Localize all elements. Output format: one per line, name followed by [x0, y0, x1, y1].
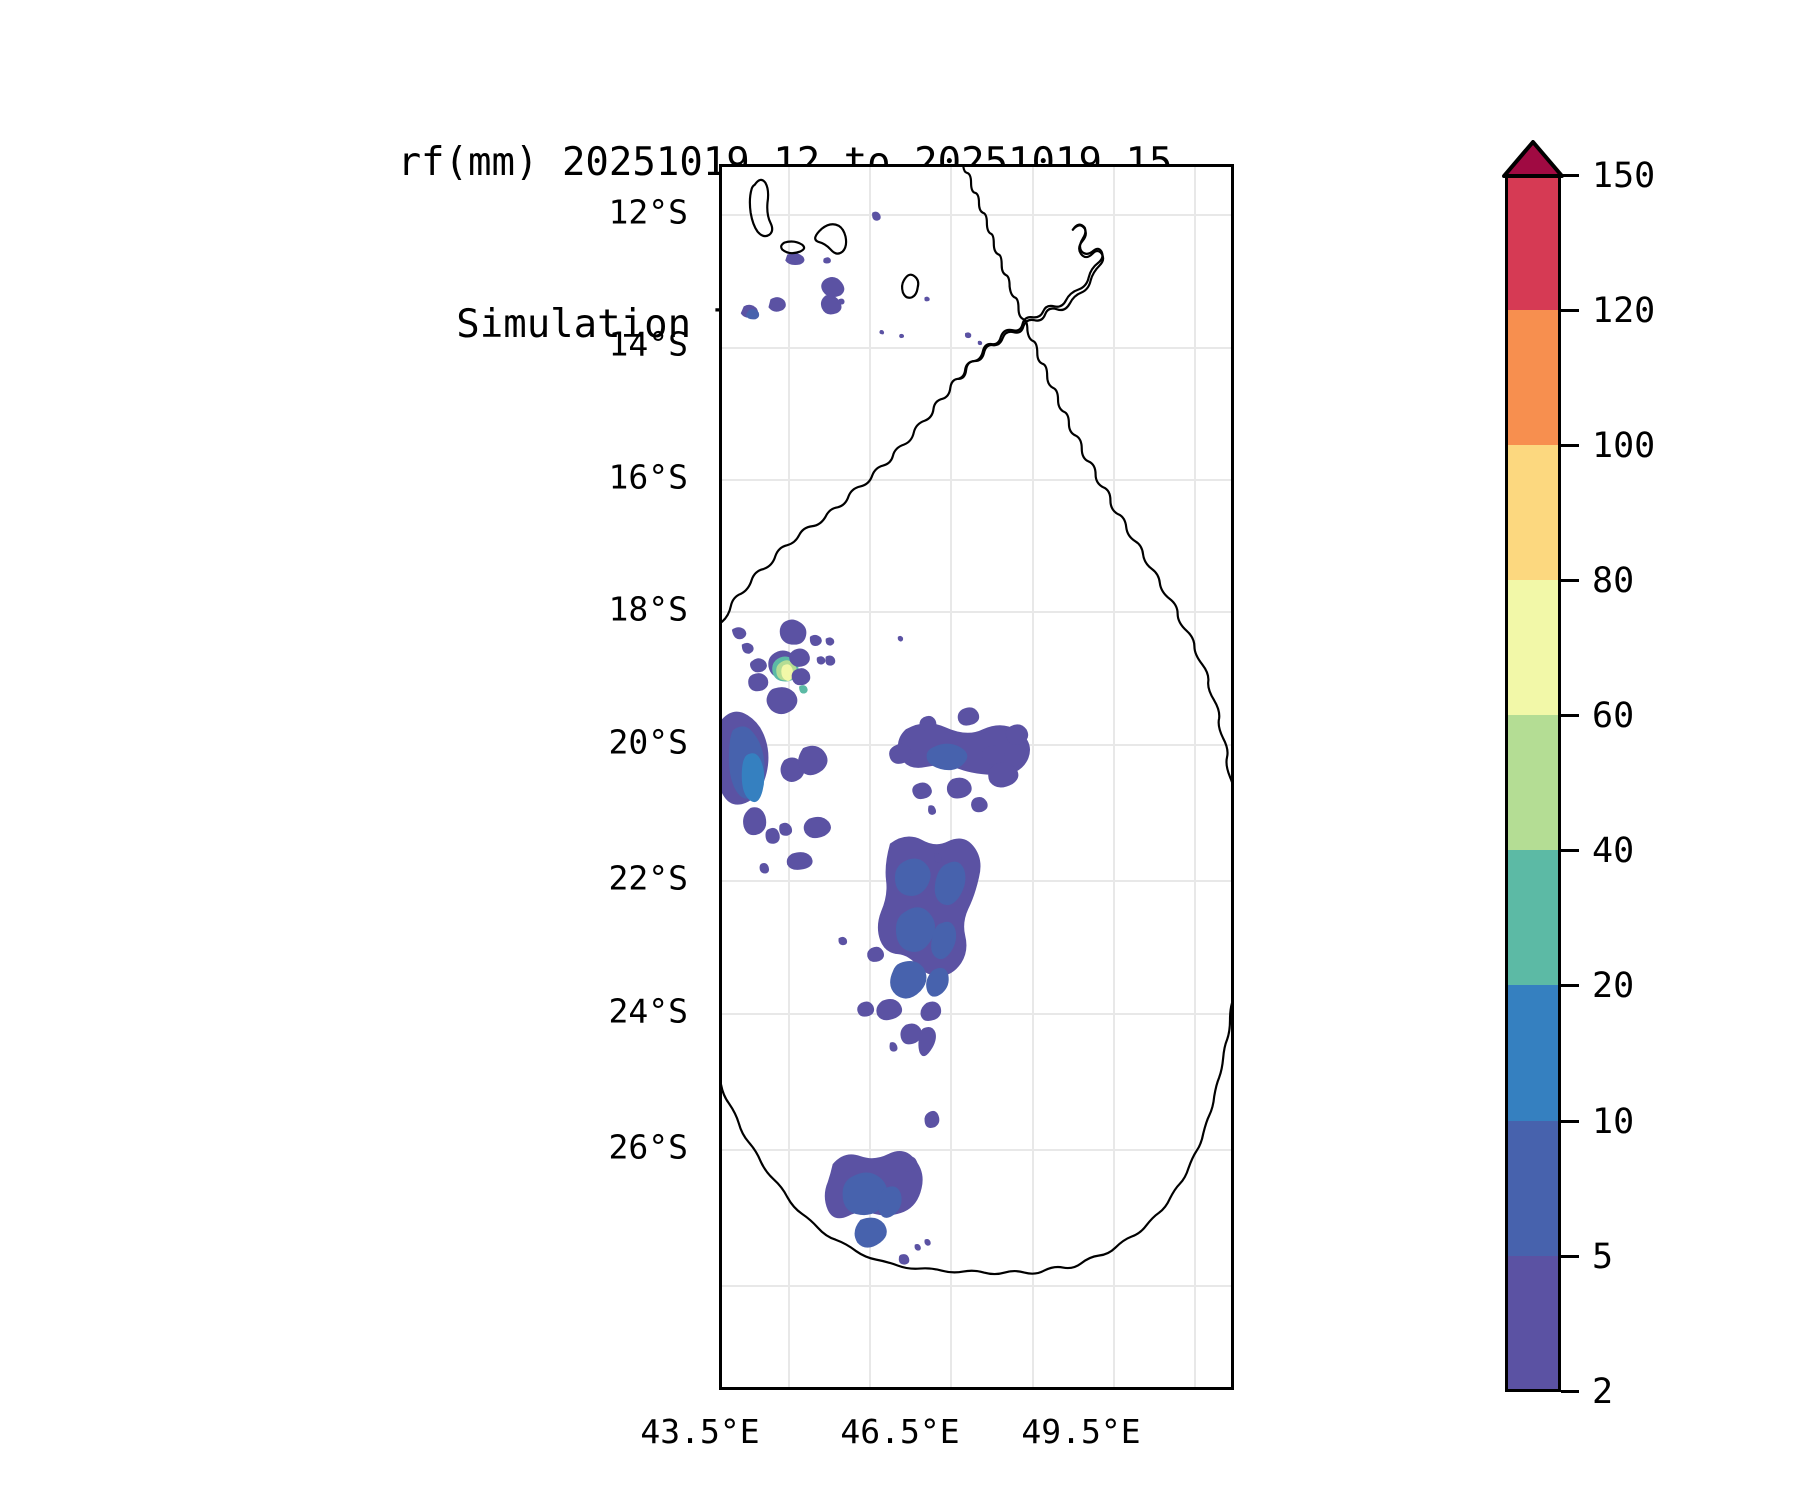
- colorbar-tick-60: [1561, 714, 1579, 717]
- colorbar-label-120: 120: [1592, 291, 1655, 331]
- x-tick-label-46-5e: 46.5°E: [840, 1412, 959, 1451]
- colorbar-tick-40: [1561, 849, 1579, 852]
- coastline-mayotte: [902, 275, 918, 298]
- x-tick-label-43-5e: 43.5°E: [640, 1412, 759, 1451]
- coastline-anjouan: [815, 224, 846, 253]
- figure-canvas: rf(mm) 20251019_12 to 20251019_15 Simula…: [0, 0, 1800, 1500]
- colorbar-label-40: 40: [1592, 831, 1634, 871]
- colorbar-band-40-60: [1505, 715, 1561, 850]
- colorbar-label-2: 2: [1592, 1372, 1613, 1412]
- colorbar-over-arrow: [1501, 140, 1565, 178]
- colorbar-label-60: 60: [1592, 696, 1634, 736]
- colorbar-tick-100: [1561, 444, 1579, 447]
- colorbar-band-100-120: [1505, 310, 1561, 445]
- colorbar-label-150: 150: [1592, 156, 1655, 196]
- colorbar-band-60-80: [1505, 580, 1561, 715]
- coastline-grande-comore: [750, 180, 772, 236]
- colorbar-label-5: 5: [1592, 1237, 1613, 1277]
- colorbar-label-80: 80: [1592, 561, 1634, 601]
- colorbar-band-120-150: [1505, 175, 1561, 310]
- colorbar-tick-5: [1561, 1255, 1579, 1258]
- colorbar-tick-20: [1561, 984, 1579, 987]
- colorbar-band-5-10: [1505, 1121, 1561, 1256]
- y-tick-label-24s: 24°S: [609, 992, 688, 1031]
- precip-central-west: [722, 620, 903, 874]
- precip-comoros: [741, 212, 982, 345]
- map-plot-area: [719, 164, 1234, 1390]
- precipitation-field: [722, 212, 1030, 1265]
- colorbar-label-10: 10: [1592, 1102, 1634, 1142]
- colorbar-tick-120: [1561, 309, 1579, 312]
- colorbar-band-10-20: [1505, 985, 1561, 1121]
- precip-eastern-band: [838, 837, 980, 1057]
- x-tick-label-49-5e: 49.5°E: [1021, 1412, 1140, 1451]
- y-tick-label-20s: 20°S: [609, 723, 688, 762]
- colorbar-label-100: 100: [1592, 426, 1655, 466]
- colorbar-label-20: 20: [1592, 966, 1634, 1006]
- y-tick-label-18s: 18°S: [609, 590, 688, 629]
- precip-central-east: [889, 707, 1030, 814]
- y-tick-label-22s: 22°S: [609, 859, 688, 898]
- y-tick-label-12s: 12°S: [609, 193, 688, 232]
- y-tick-label-14s: 14°S: [609, 325, 688, 364]
- y-tick-label-26s: 26°S: [609, 1128, 688, 1167]
- colorbar-tick-2: [1561, 1390, 1579, 1393]
- coastline-moheli: [781, 242, 804, 254]
- colorbar-tick-10: [1561, 1120, 1579, 1123]
- map-graphics: [722, 167, 1231, 1387]
- colorbar-band-2-5: [1505, 1256, 1561, 1392]
- colorbar[interactable]: [1505, 175, 1561, 1392]
- y-tick-label-16s: 16°S: [609, 458, 688, 497]
- colorbar-tick-150: [1561, 174, 1579, 177]
- colorbar-band-80-100: [1505, 445, 1561, 580]
- colorbar-tick-80: [1561, 579, 1579, 582]
- colorbar-band-20-40: [1505, 850, 1561, 985]
